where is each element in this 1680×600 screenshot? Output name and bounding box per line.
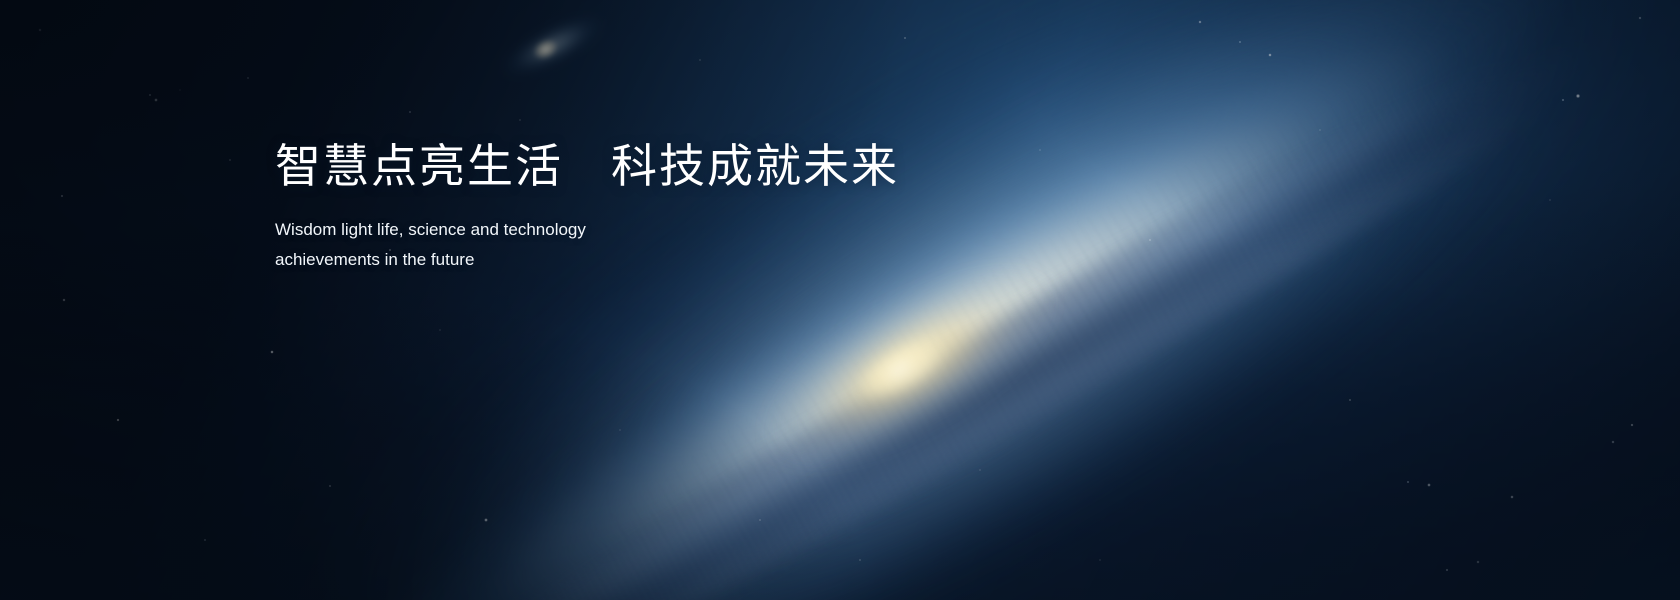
banner-headline: 智慧点亮生活 科技成就未来 — [275, 140, 899, 193]
banner-subtitle-line-1: Wisdom light life, science and technolog… — [275, 215, 665, 245]
vignette-top-right — [0, 0, 1680, 600]
hero-banner: 智慧点亮生活 科技成就未来 Wisdom light life, science… — [0, 0, 1680, 600]
banner-subtitle: Wisdom light life, science and technolog… — [275, 193, 665, 275]
banner-subtitle-line-2: achievements in the future — [275, 245, 665, 275]
hero-copy: 智慧点亮生活 科技成就未来 Wisdom light life, science… — [275, 140, 899, 275]
